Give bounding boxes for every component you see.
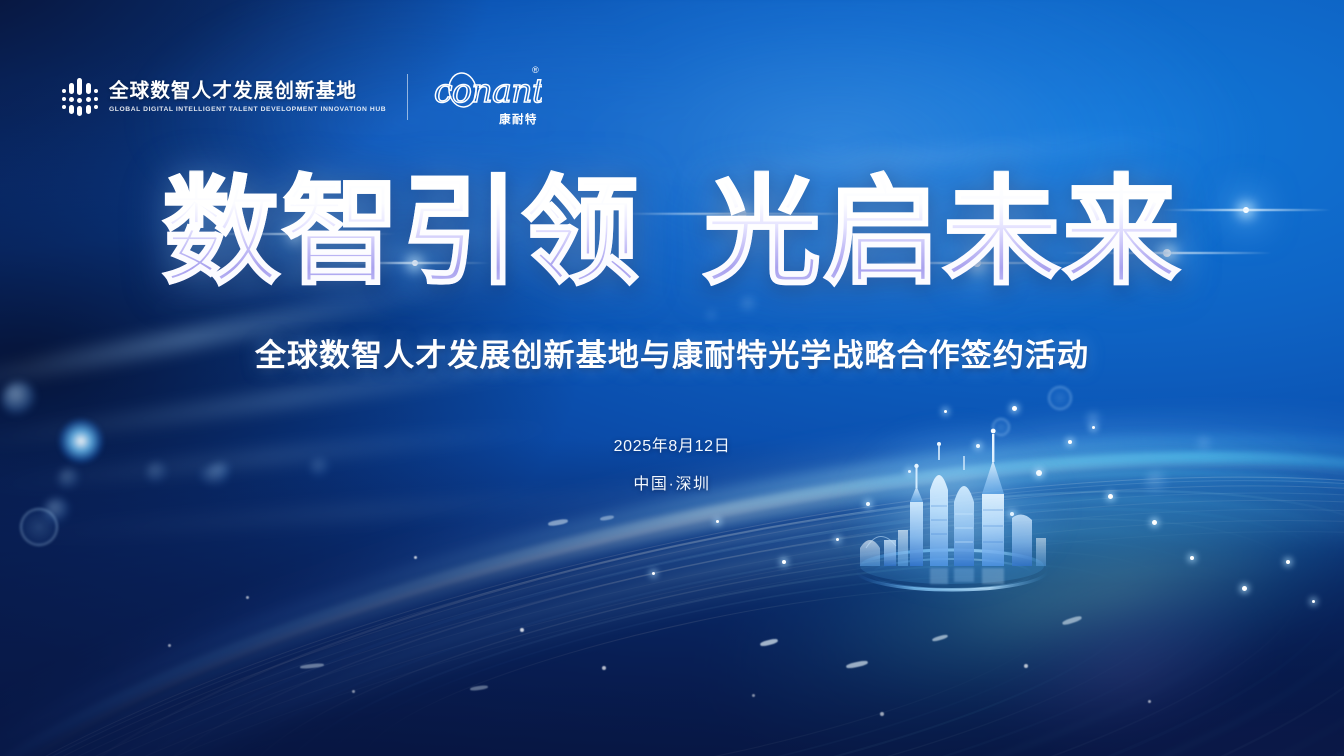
conant-logo[interactable]: conant ® 康耐特 xyxy=(432,66,542,128)
hero-title-left: 数智引领 xyxy=(162,172,641,292)
event-date: 2025年8月12日 xyxy=(0,432,1344,456)
event-location: 中国·深圳 xyxy=(0,470,1344,494)
dot-matrix-logo-icon xyxy=(62,77,98,117)
hub-name-cn: 全球数智人才发展创新基地 xyxy=(109,81,381,102)
logo-divider xyxy=(407,74,408,120)
logo-bar: 全球数智人才发展创新基地 GLOBAL DIGITAL INTELLIGENT … xyxy=(62,66,542,128)
hub-logo[interactable]: 全球数智人才发展创新基地 GLOBAL DIGITAL INTELLIGENT … xyxy=(62,77,381,117)
city-skyline-illustration xyxy=(836,398,1068,598)
poster-canvas: 全球数智人才发展创新基地 GLOBAL DIGITAL INTELLIGENT … xyxy=(0,0,1344,756)
hero-title-right: 光启未来 xyxy=(703,172,1182,292)
svg-text:conant: conant xyxy=(434,71,542,110)
event-meta: 2025年8月12日 中国·深圳 xyxy=(0,432,1344,494)
conant-name-cn: 康耐特 xyxy=(499,111,538,127)
hero-title: 数智引领光启未来 xyxy=(0,172,1344,292)
hero-subtitle: 全球数智人才发展创新基地与康耐特光学战略合作签约活动 xyxy=(0,330,1344,375)
registered-mark-icon: ® xyxy=(532,66,539,75)
hub-name-en: GLOBAL DIGITAL INTELLIGENT TALENT DEVELO… xyxy=(109,106,386,113)
